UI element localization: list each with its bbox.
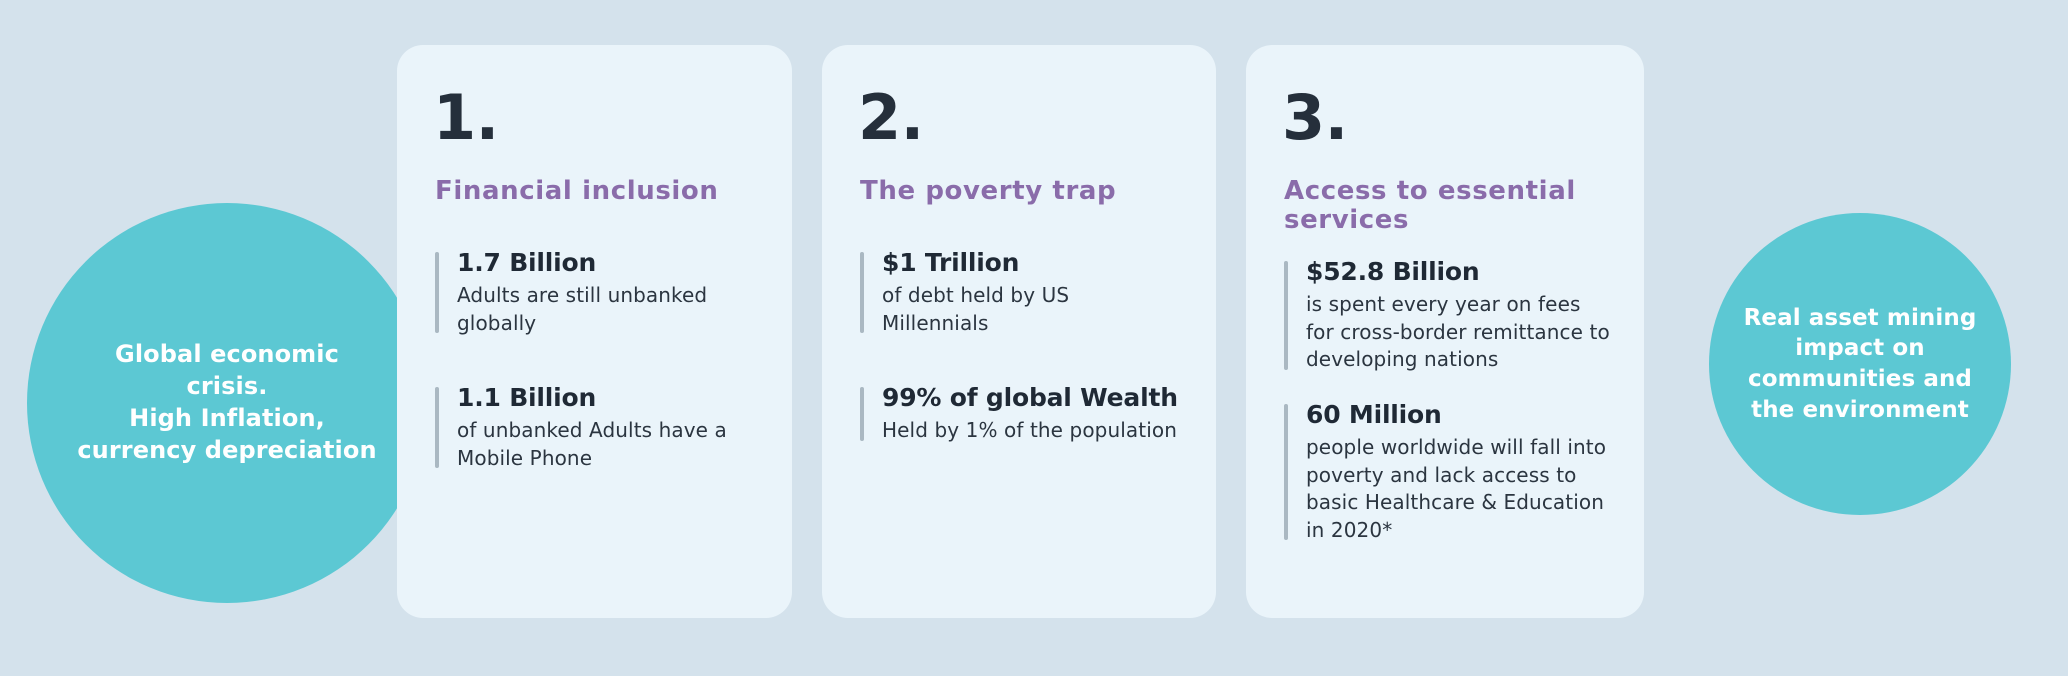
stat-value: 60 Million [1306,400,1610,430]
left-context-circle: Global economic crisis. High Inflation, … [27,203,427,603]
stat-item: 60 Million people worldwide will fall in… [1284,400,1610,544]
card-title: The poverty trap [860,177,1182,206]
stat-rule-bar [1284,404,1288,540]
card-number: 2. [858,87,1182,149]
stat-rule-bar [860,252,864,333]
stat-item: 1.7 Billion Adults are still unbanked gl… [435,248,758,337]
stat-rule-bar [435,252,439,333]
stat-value: $1 Trillion [882,248,1182,278]
stat-item: $1 Trillion of debt held by US Millennia… [860,248,1182,337]
stat-description: people worldwide will fall into poverty … [1306,434,1610,544]
cards-container: 1. Financial inclusion 1.7 Billion Adult… [397,45,1644,618]
right-context-circle: Real asset mining impact on communities … [1709,213,2011,515]
left-context-circle-label: Global economic crisis. High Inflation, … [77,339,377,467]
stat-rule-bar [1284,261,1288,370]
infographic-canvas: Global economic crisis. High Inflation, … [0,0,2068,676]
right-context-circle-label: Real asset mining impact on communities … [1729,303,1991,425]
card-financial-inclusion[interactable]: 1. Financial inclusion 1.7 Billion Adult… [397,45,792,618]
stat-value: $52.8 Billion [1306,257,1610,287]
stat-rule-bar [860,387,864,441]
card-number: 1. [433,87,758,149]
stats-list: 1.7 Billion Adults are still unbanked gl… [435,248,758,472]
card-title: Financial inclusion [435,177,758,206]
stat-value: 99% of global Wealth [882,383,1182,413]
stat-value: 1.1 Billion [457,383,758,413]
stat-description: Held by 1% of the population [882,417,1182,445]
card-number: 3. [1282,87,1610,149]
stat-rule-bar [435,387,439,468]
card-title: Access to essential services [1284,177,1610,235]
stat-description: Adults are still unbanked globally [457,282,758,337]
stat-item: 99% of global Wealth Held by 1% of the p… [860,383,1182,445]
stat-description: of debt held by US Millennials [882,282,1182,337]
stats-list: $52.8 Billion is spent every year on fee… [1284,257,1610,544]
stat-value: 1.7 Billion [457,248,758,278]
card-poverty-trap[interactable]: 2. The poverty trap $1 Trillion of debt … [822,45,1216,618]
stat-description: is spent every year on fees for cross-bo… [1306,291,1610,374]
stat-description: of unbanked Adults have a Mobile Phone [457,417,758,472]
stat-item: 1.1 Billion of unbanked Adults have a Mo… [435,383,758,472]
card-access-essential-services[interactable]: 3. Access to essential services $52.8 Bi… [1246,45,1644,618]
stat-item: $52.8 Billion is spent every year on fee… [1284,257,1610,374]
stats-list: $1 Trillion of debt held by US Millennia… [860,248,1182,445]
